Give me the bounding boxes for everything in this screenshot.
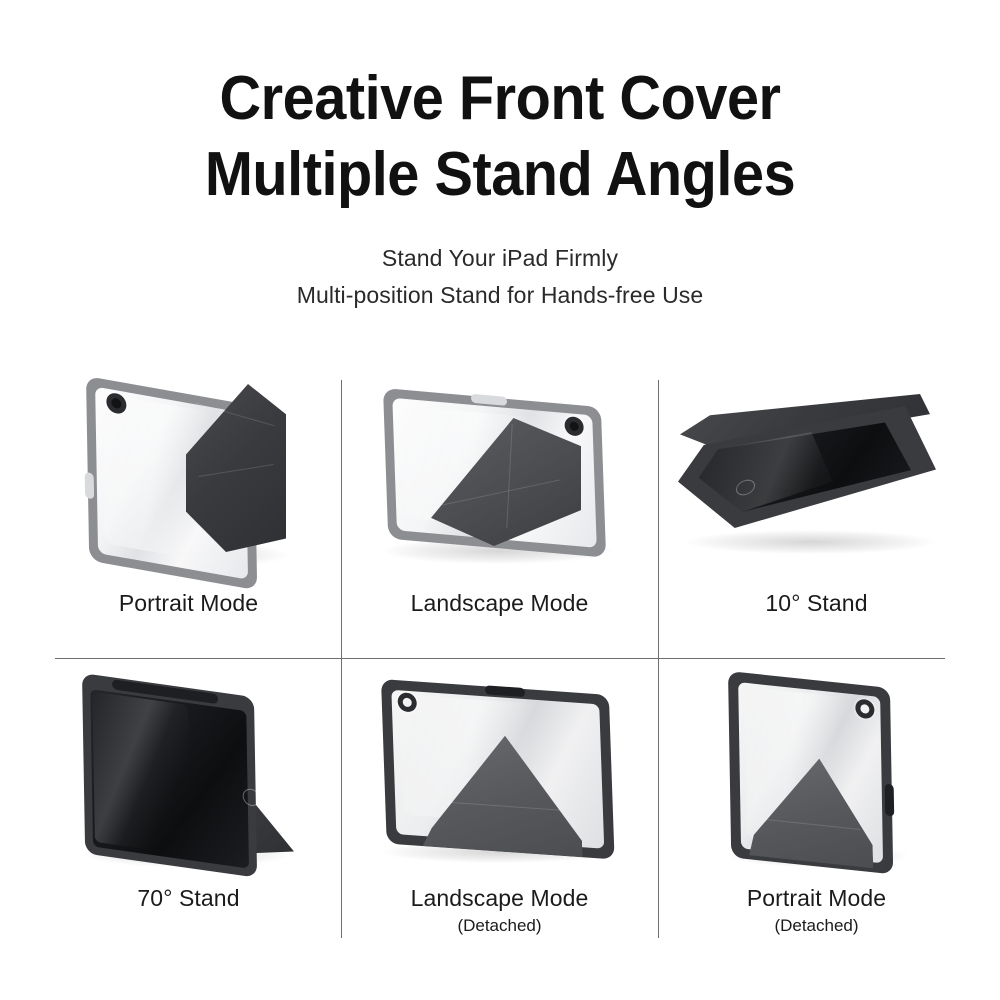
grid-cell-seventy-degree-stand: 70° Stand [30,665,347,955]
cell-sub-caption: (Detached) [658,914,975,938]
grid-cell-portrait-mode-detached: Portrait Mode (Detached) [658,665,975,955]
stand-flap [431,418,581,546]
grid-cell-ten-degree-stand: 10° Stand [658,370,975,658]
product-image-seventy-degree-stand [30,665,347,870]
triangle-stand-fold [747,751,873,868]
cell-sub-caption: (Detached) [341,914,658,938]
grid-cell-landscape-mode-detached: Landscape Mode (Detached) [341,665,658,955]
empty-case-shell [381,679,615,859]
tablet-body [82,673,257,878]
product-image-ten-degree-stand [658,370,975,575]
pencil-slot [85,472,94,500]
tablet-slab [678,406,936,528]
empty-case-shell [728,671,893,874]
product-image-portrait-mode-detached [658,665,975,870]
triangle-stand-fold [419,730,583,858]
cell-caption: Portrait Mode [30,589,347,617]
feature-grid: Portrait Mode Landscape Mode [0,0,1000,1000]
product-image-landscape-mode-detached [341,665,658,870]
grid-divider-horizontal [55,658,945,659]
product-image-portrait-mode [30,370,347,575]
cell-caption: Landscape Mode [341,884,658,912]
pencil-slot [885,784,895,817]
cell-caption: 10° Stand [658,589,975,617]
grid-cell-portrait-mode: Portrait Mode [30,370,347,658]
grid-cell-landscape-mode: Landscape Mode [341,370,658,658]
drop-shadow [686,530,936,554]
cell-caption: 70° Stand [30,884,347,912]
cell-caption: Landscape Mode [341,589,658,617]
product-image-landscape-mode [341,370,658,575]
stand-flap [186,384,286,552]
cell-caption: Portrait Mode [658,884,975,912]
